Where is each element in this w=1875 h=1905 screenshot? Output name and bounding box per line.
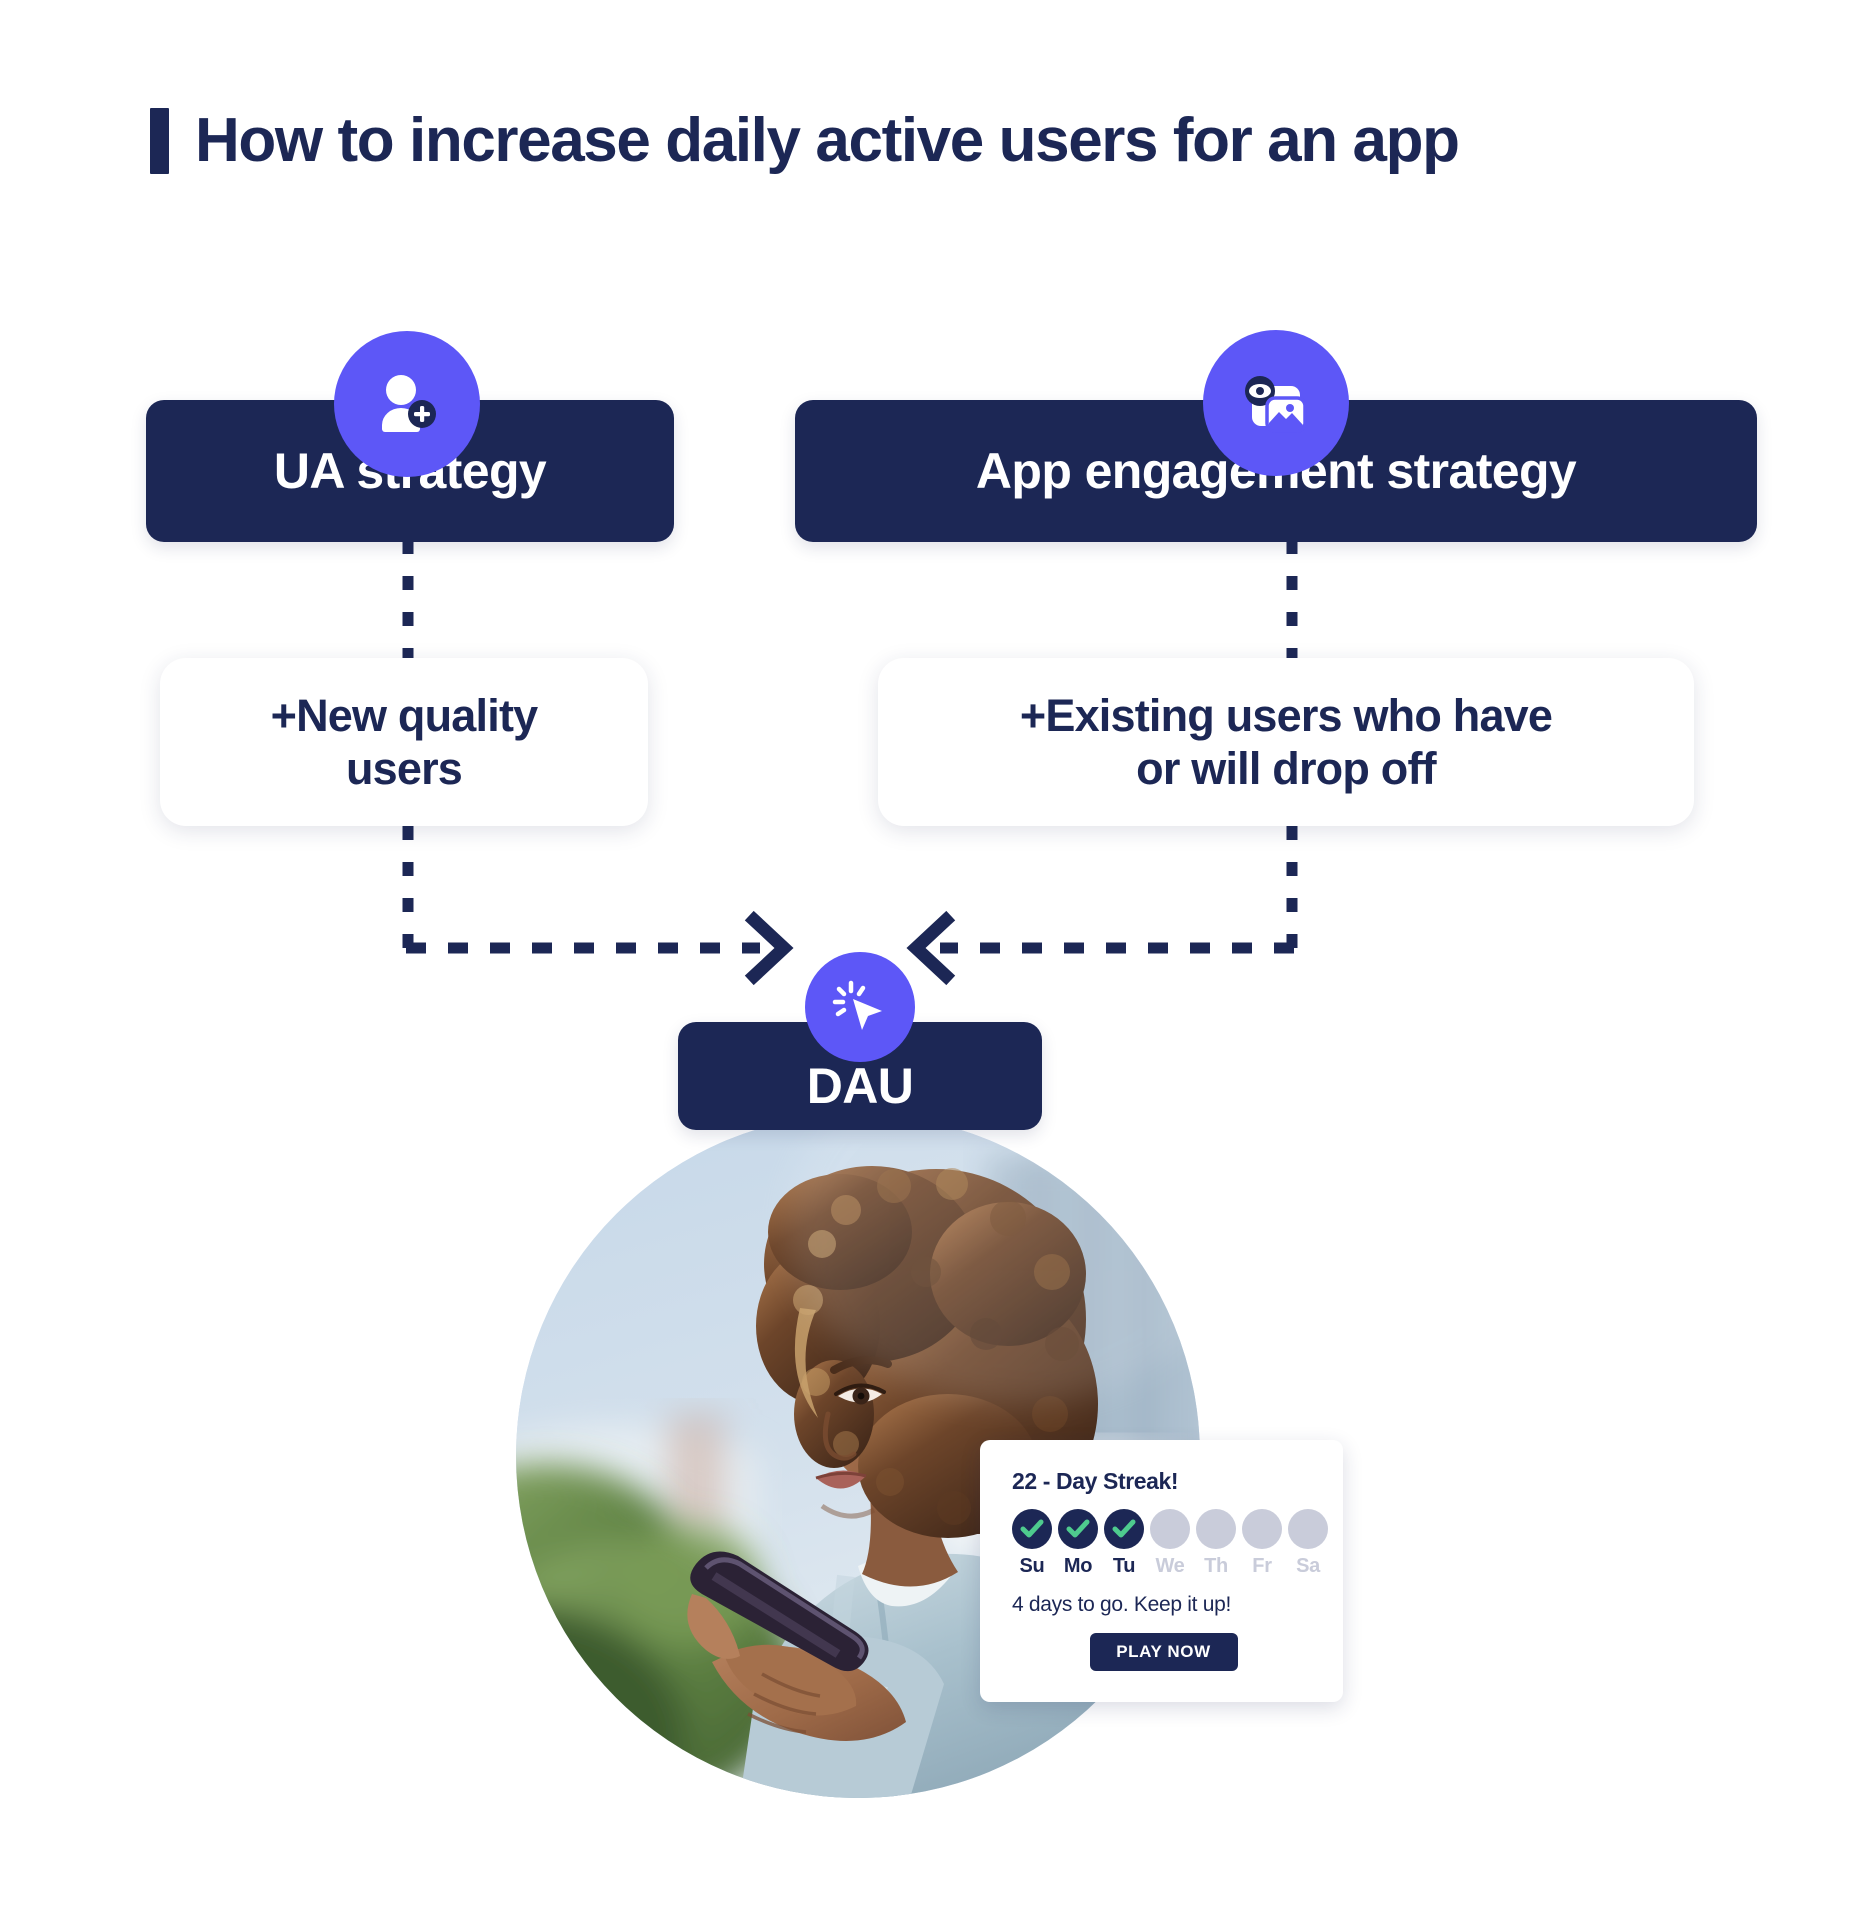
page-title: How to increase daily active users for a… [150, 108, 1459, 174]
streak-day-tu-dot [1104, 1509, 1144, 1549]
streak-day-fr-dot [1242, 1509, 1282, 1549]
streak-day-tu[interactable]: Tu [1104, 1509, 1144, 1578]
streak-day-th-dot [1196, 1509, 1236, 1549]
connector-ua-to-dau [300, 540, 800, 1000]
streak-day-tu-label: Tu [1113, 1555, 1135, 1578]
streak-day-su[interactable]: Su [1012, 1509, 1052, 1578]
title-accent-bar [150, 108, 169, 174]
connector-engagement-to-dau [900, 540, 1400, 1000]
streak-day-fr[interactable]: Fr [1242, 1509, 1282, 1578]
eye-media-icon [1203, 330, 1349, 476]
streak-day-mo[interactable]: Mo [1058, 1509, 1098, 1578]
check-icon [1065, 1516, 1091, 1542]
play-now-button[interactable]: PLAY NOW [1090, 1633, 1238, 1671]
page-title-text: How to increase daily active users for a… [195, 110, 1459, 172]
click-cursor-icon [805, 952, 915, 1062]
streak-day-sa[interactable]: Sa [1288, 1509, 1328, 1578]
streak-day-we-label: We [1155, 1555, 1184, 1578]
streak-day-su-label: Su [1020, 1555, 1045, 1578]
user-plus-icon [334, 331, 480, 477]
streak-day-th-label: Th [1204, 1555, 1228, 1578]
streak-day-mo-label: Mo [1064, 1555, 1092, 1578]
streak-day-sa-label: Sa [1296, 1555, 1320, 1578]
streak-day-th[interactable]: Th [1196, 1509, 1236, 1578]
streak-day-we[interactable]: We [1150, 1509, 1190, 1578]
streak-day-we-dot [1150, 1509, 1190, 1549]
streak-title: 22 - Day Streak! [1012, 1468, 1315, 1495]
streak-card: 22 - Day Streak! Su Mo [980, 1440, 1343, 1702]
infographic-canvas: How to increase daily active users for a… [0, 0, 1875, 1905]
streak-day-fr-label: Fr [1252, 1555, 1271, 1578]
streak-day-su-dot [1012, 1509, 1052, 1549]
streak-subtitle: 4 days to go. Keep it up! [1012, 1593, 1315, 1617]
streak-day-list: Su Mo Tu We [1012, 1509, 1315, 1578]
streak-day-sa-dot [1288, 1509, 1328, 1549]
check-icon [1111, 1516, 1137, 1542]
check-icon [1019, 1516, 1045, 1542]
streak-day-mo-dot [1058, 1509, 1098, 1549]
